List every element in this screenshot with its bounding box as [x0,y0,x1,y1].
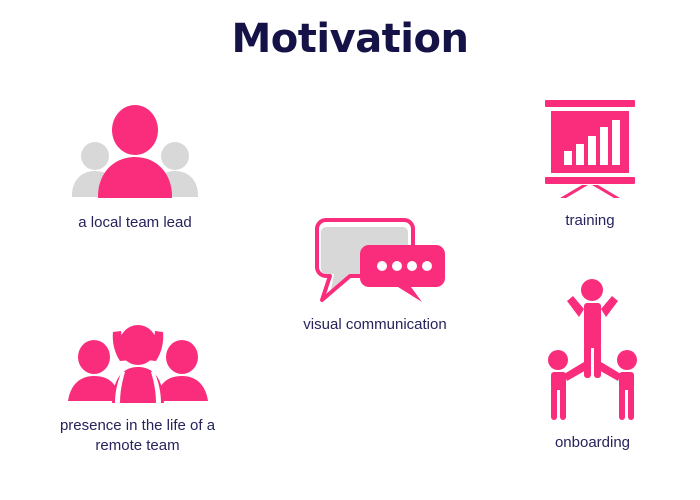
chat-bubbles-icon [300,214,450,307]
item-visual-communication[interactable]: visual communication [285,214,465,335]
item-team-lead[interactable]: a local team lead [35,105,235,233]
people-group-leader-icon [70,105,200,205]
human-pyramid-icon [540,278,645,425]
presentation-bar-chart-icon [540,98,640,203]
slide-canvas: Motivation a local [0,0,700,500]
item-training[interactable]: training [515,98,665,231]
item-label-onboarding: onboarding [555,433,630,453]
item-label-training: training [565,211,614,231]
item-label-visual-communication: visual communication [303,315,446,335]
item-label-team-lead: a local team lead [78,213,191,233]
item-presence[interactable]: presence in the life of a remote team [30,325,245,456]
page-title: Motivation [0,16,700,62]
item-onboarding[interactable]: onboarding [520,278,665,453]
three-people-raised-arms-icon [68,325,208,408]
item-label-presence: presence in the life of a remote team [60,416,215,456]
